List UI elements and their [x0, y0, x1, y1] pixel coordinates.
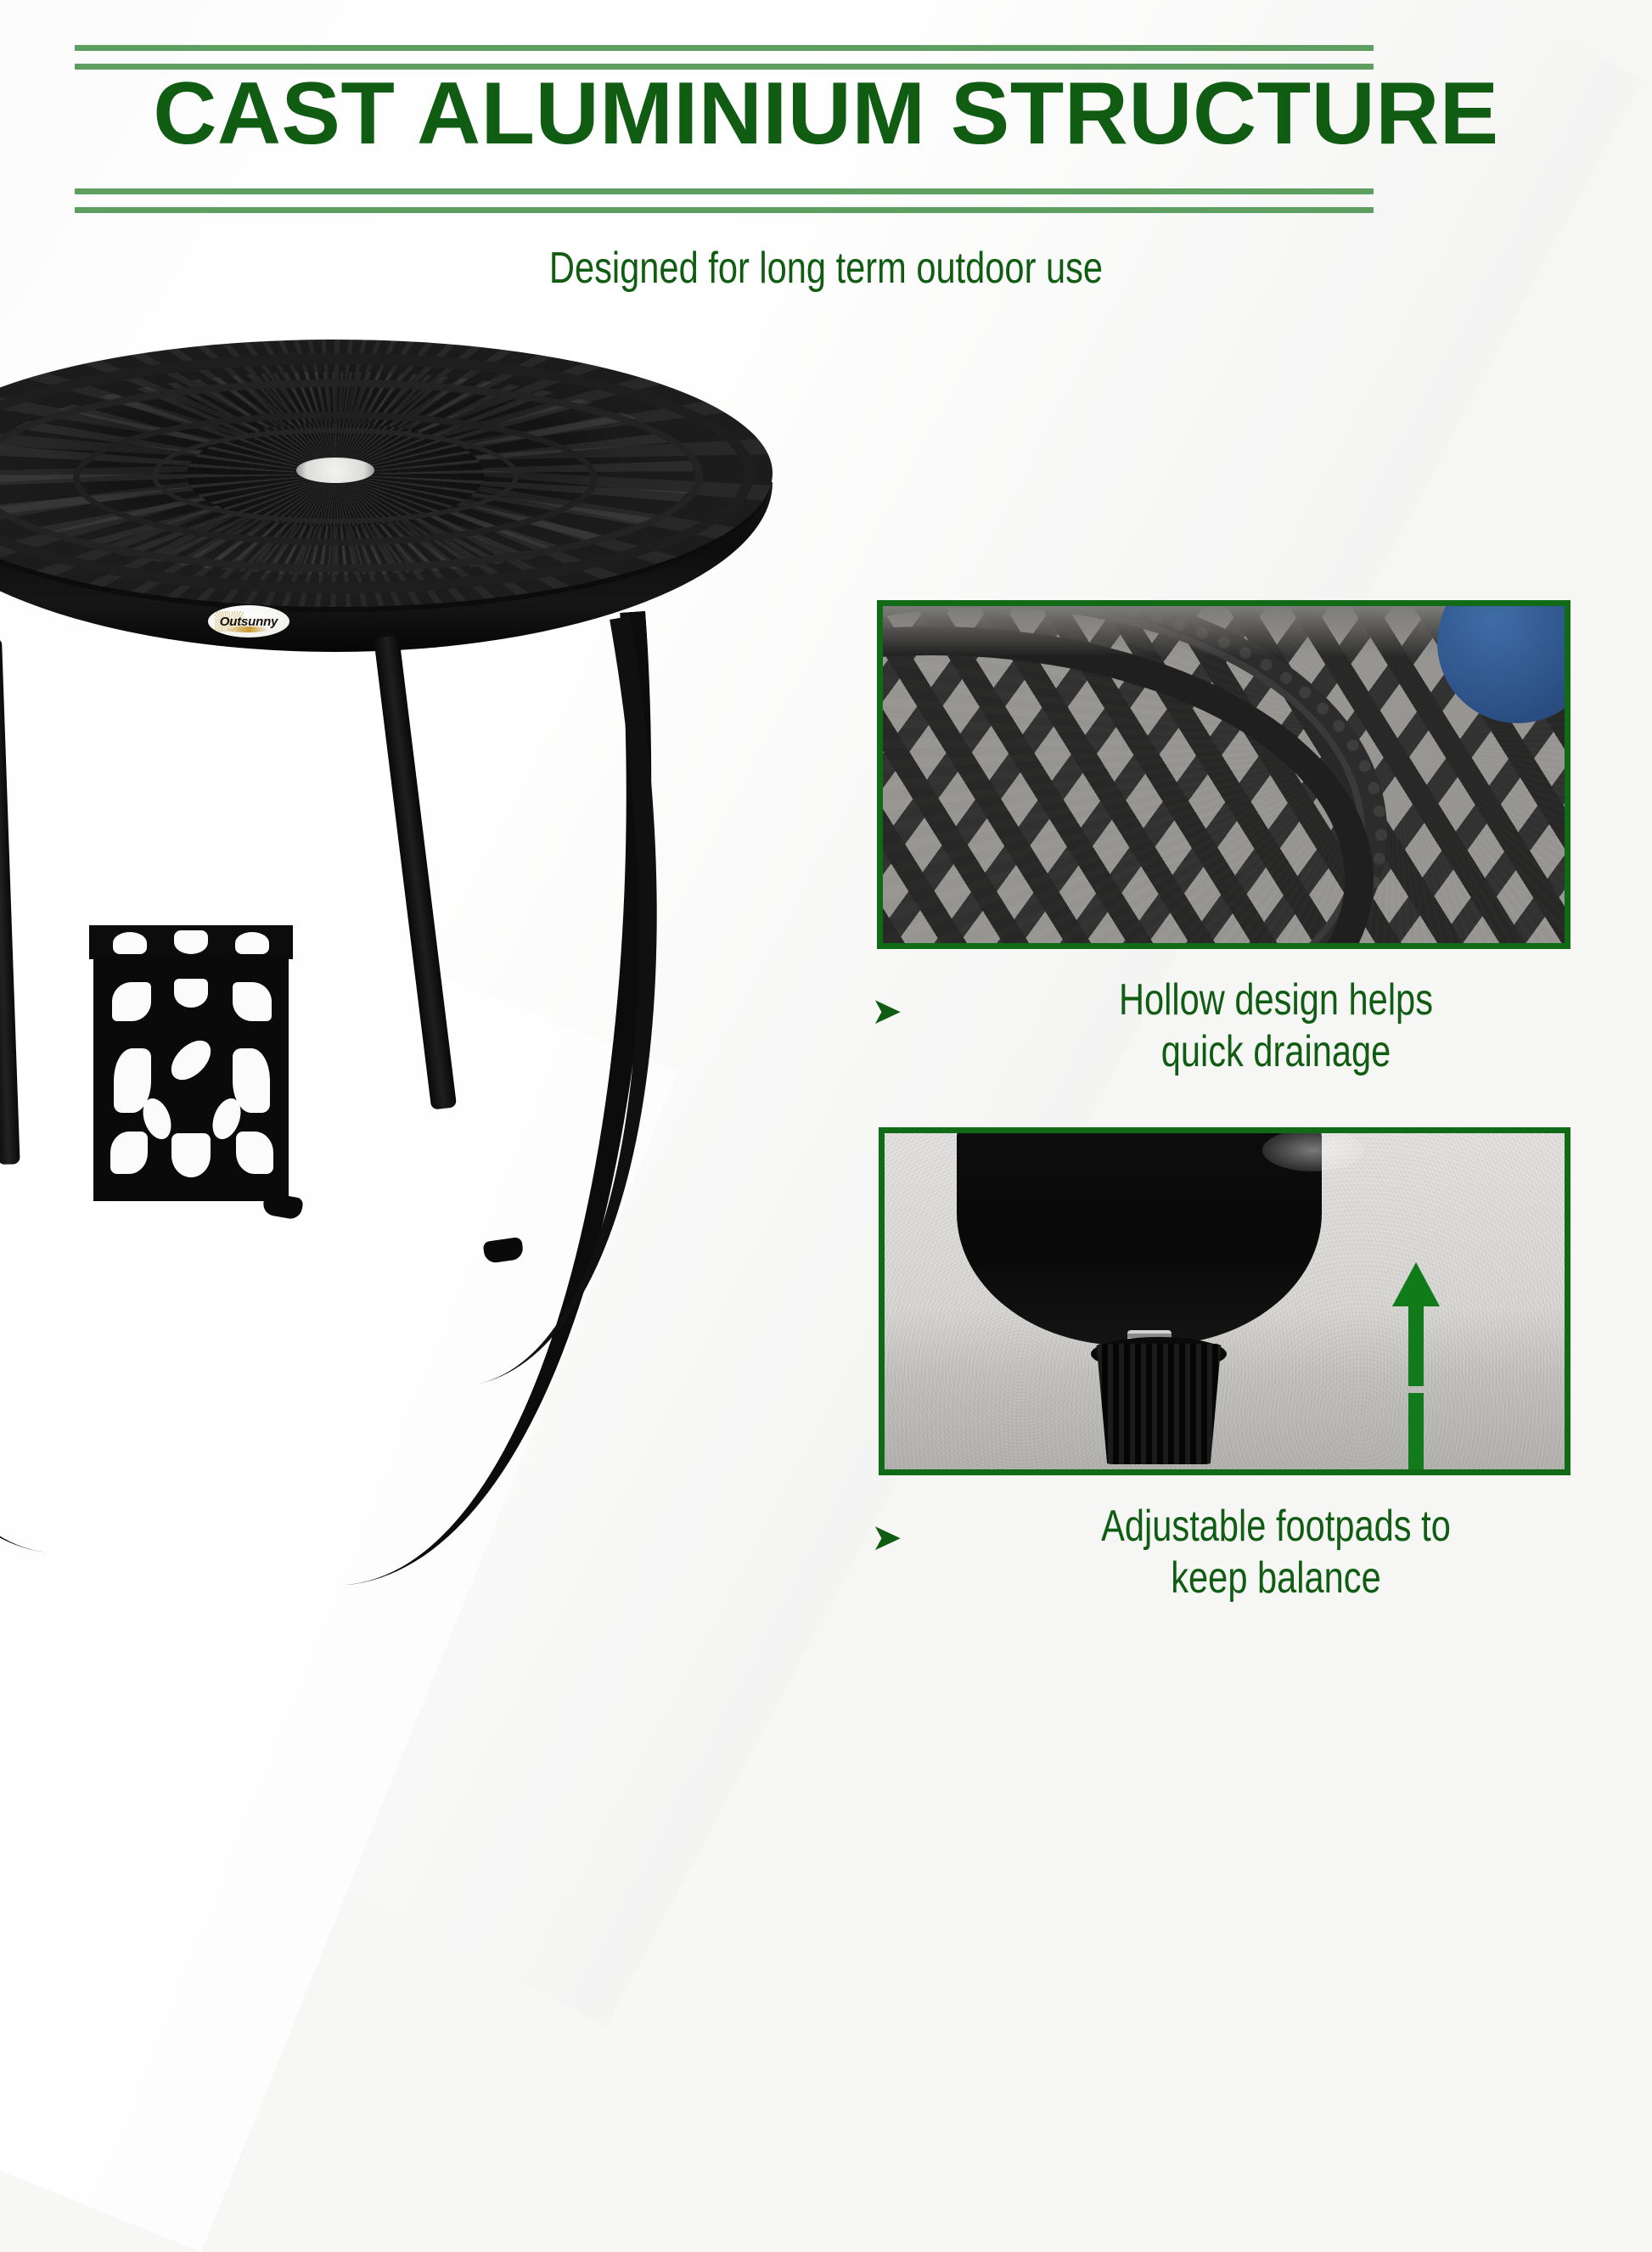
feature-caption-text: Hollow design helps quick drainage — [989, 974, 1564, 1079]
arrow-bullet-icon: ➤ — [871, 1519, 917, 1557]
pedestal-decorative-panel — [93, 955, 289, 1201]
pedestal-crossbar — [89, 925, 293, 959]
feature-caption-hollow-design: ➤ Hollow design helps quick drainage — [871, 974, 1635, 1079]
product-hero-photo: Outsunny — [0, 340, 798, 1545]
up-down-arrow-icon — [1392, 1262, 1440, 1475]
feature-caption-adjustable-footpad: ➤ Adjustable footpads to keep balance — [871, 1501, 1635, 1605]
pedestal-cutout — [233, 982, 272, 1021]
rule-line — [75, 45, 1374, 51]
pedestal-cutout — [110, 1132, 148, 1174]
rule-line — [75, 188, 1374, 194]
header-rule-bottom — [75, 188, 1374, 213]
arrow-head — [1392, 1262, 1440, 1306]
arrow-bullet-icon: ➤ — [871, 993, 917, 1031]
pedestal-cutout — [112, 982, 151, 1021]
arrow-up-part — [1392, 1262, 1440, 1386]
pedestal-cutout — [174, 930, 208, 954]
brand-badge: Outsunny — [208, 605, 289, 637]
pedestal-cutout — [171, 1133, 211, 1177]
footpad-knob — [1091, 1344, 1227, 1464]
leg-highlight — [1262, 1129, 1364, 1171]
page-title: CAST ALUMINIUM STRUCTURE — [0, 68, 1652, 160]
badge-swoosh — [225, 626, 269, 632]
feature-image-hollow-design — [877, 600, 1571, 949]
pedestal-cutout — [236, 1132, 273, 1174]
pedestal-cutout — [164, 1033, 218, 1087]
pedestal-cutout — [174, 979, 208, 1008]
header-banner: CAST ALUMINIUM STRUCTURE Designed for lo… — [0, 0, 1652, 306]
arrow-down-part — [1392, 1393, 1440, 1475]
pedestal-cutout — [113, 932, 147, 954]
rule-line — [75, 207, 1374, 213]
arrow-shaft — [1408, 1393, 1424, 1474]
feature-caption-text: Adjustable footpads to keep balance — [989, 1501, 1564, 1605]
feature-image-adjustable-footpad — [879, 1127, 1571, 1475]
pedestal-cutout — [235, 932, 269, 954]
arrow-head — [1392, 1473, 1440, 1475]
arrow-shaft — [1408, 1305, 1424, 1386]
page-subtitle: Designed for long term outdoor use — [166, 243, 1487, 294]
umbrella-hole — [296, 458, 375, 483]
table-top-lattice — [0, 340, 773, 607]
